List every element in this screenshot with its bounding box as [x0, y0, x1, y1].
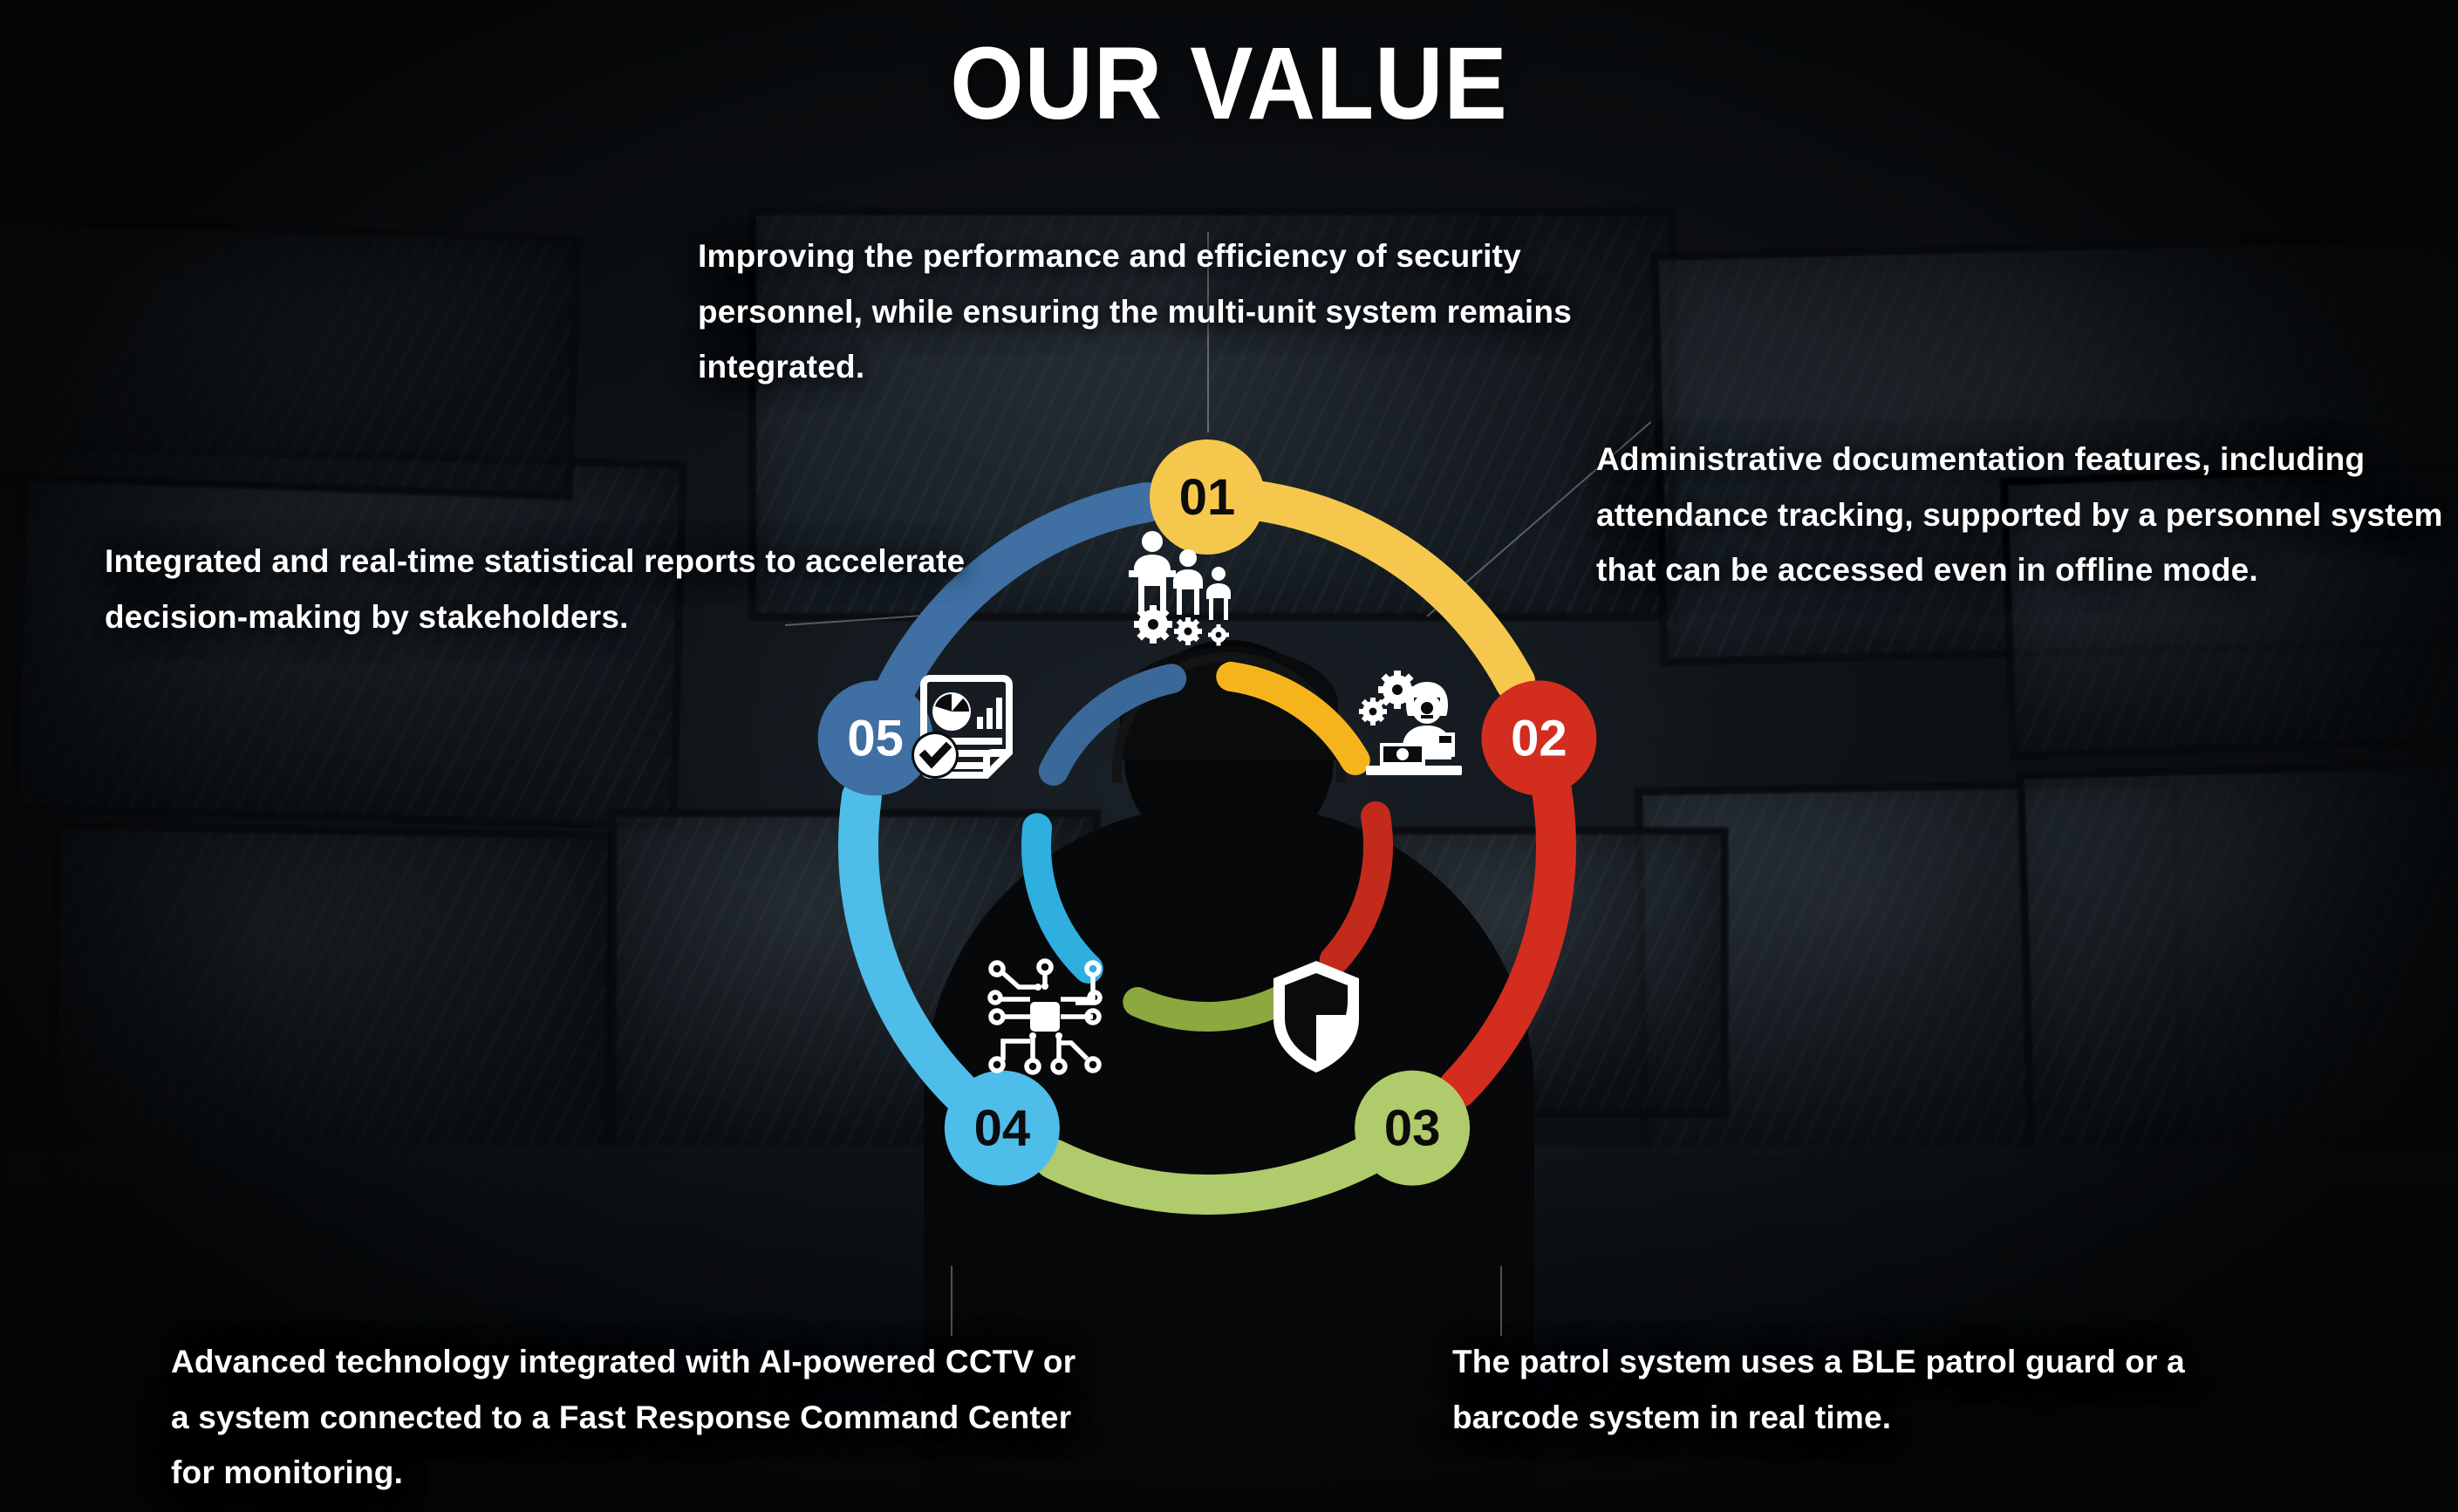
value-wheel-diagram: 0102030405: [745, 384, 1669, 1308]
badge-number: 05: [847, 710, 904, 766]
microchip-icon: [987, 959, 1103, 1074]
wheel-inner-arc-02: [1335, 816, 1378, 960]
page-title: OUR VALUE: [99, 24, 2360, 143]
value-text-03: The patrol system uses a BLE patrol guar…: [1452, 1334, 2237, 1445]
shield-icon: [1268, 959, 1364, 1074]
badge-number: 04: [974, 1100, 1031, 1157]
value-text-02: Administrative documentation features, i…: [1596, 432, 2458, 598]
wheel-inner-arc-04: [1036, 828, 1089, 969]
value-text-04: Advanced technology integrated with AI-p…: [171, 1334, 1096, 1501]
person-laptop-gears-icon: [1359, 670, 1477, 779]
badge-number: 01: [1179, 469, 1236, 526]
wheel-badge-04[interactable]: 04: [945, 1071, 1060, 1186]
badge-number: 02: [1511, 710, 1567, 766]
wheel-badge-03[interactable]: 03: [1355, 1071, 1470, 1186]
wheel-inner-arc-03: [1137, 997, 1287, 1017]
report-chart-check-icon: [911, 671, 1024, 787]
badge-number: 03: [1384, 1100, 1441, 1157]
wheel-badge-02[interactable]: 02: [1481, 680, 1596, 795]
wheel-inner-arc-05: [1054, 678, 1171, 771]
value-text-05: Integrated and real-time statistical rep…: [105, 534, 968, 644]
value-text-01: Improving the performance and efficiency…: [698, 228, 1675, 395]
wheel-inner-arc-01: [1231, 677, 1355, 760]
people-gears-icon: [1127, 530, 1258, 648]
